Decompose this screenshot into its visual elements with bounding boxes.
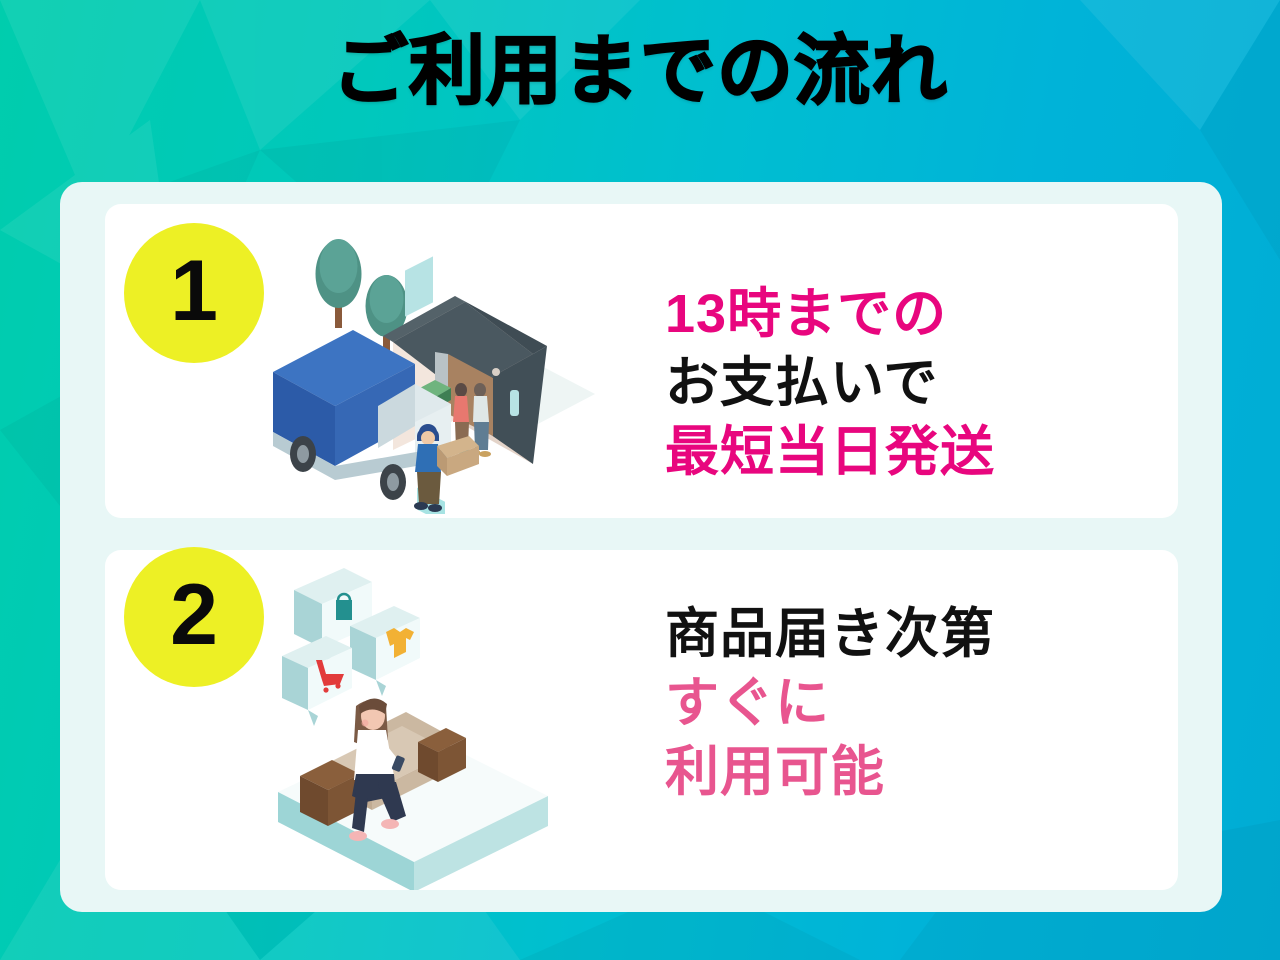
woman-on-sofa-shopping-illustration [260,560,590,890]
step-1-line-3: 最短当日発送 [665,418,995,487]
step-2-line-1: 商品届き次第 [665,600,995,669]
step-badge-1: 1 [124,223,264,363]
step-badge-2: 2 [124,547,264,687]
page-title: ご利用までの流れ [0,34,1280,110]
promo-banner: ご利用までの流れ [0,0,1280,960]
step-card-2: 2 商品届き次第 すぐに 利用可能 [105,550,1178,890]
step-1-line-2: お支払いで [665,349,995,418]
step-text-1: 13時までの お支払いで 最短当日発送 [665,280,995,487]
step-text-2: 商品届き次第 すぐに 利用可能 [665,600,995,807]
step-2-line-2: すぐに [665,669,995,738]
steps-panel: 1 13時までの お支払いで 最短当日発送 [60,182,1222,912]
delivery-truck-house-illustration [265,214,595,514]
step-card-1: 1 13時までの お支払いで 最短当日発送 [105,204,1178,518]
step-1-line-1: 13時までの [665,280,995,349]
step-2-line-3: 利用可能 [665,738,995,807]
